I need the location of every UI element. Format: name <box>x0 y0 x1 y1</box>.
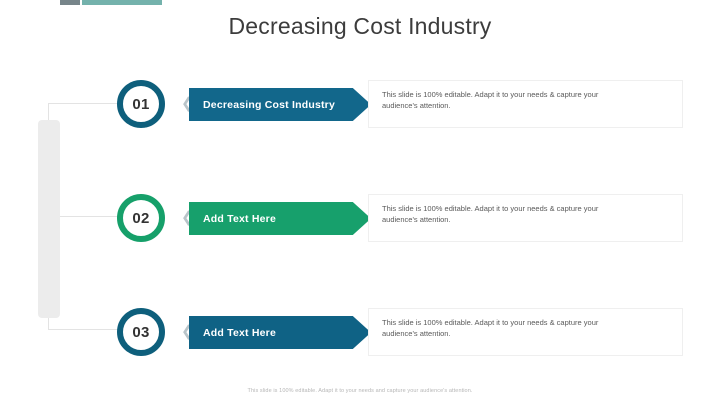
step-circle-3[interactable]: 03 <box>117 308 165 356</box>
step-number-label: 02 <box>132 210 149 227</box>
step-circle-1[interactable]: 01 <box>117 80 165 128</box>
step-circle-2[interactable]: 02 <box>117 194 165 242</box>
list-item: 03 ❮ Add Text Here This slide is 100% ed… <box>0 304 720 360</box>
chevron-left-icon: ❮ <box>181 94 190 114</box>
step-banner-label: Add Text Here <box>189 213 276 225</box>
step-number-label: 03 <box>132 324 149 341</box>
slide-footer-note: This slide is 100% editable. Adapt it to… <box>0 388 720 394</box>
step-banner-3[interactable]: Add Text Here <box>189 316 371 349</box>
chevron-left-icon: ❮ <box>181 208 190 228</box>
step-banner-label: Decreasing Cost Industry <box>189 99 335 111</box>
step-banner-1[interactable]: Decreasing Cost Industry <box>189 88 371 121</box>
description-text-1: This slide is 100% editable. Adapt it to… <box>382 89 632 111</box>
top-accent-bar-gray <box>60 0 80 5</box>
description-text-2: This slide is 100% editable. Adapt it to… <box>382 203 632 225</box>
step-banner-label: Add Text Here <box>189 327 276 339</box>
slide-canvas: Decreasing Cost Industry 01 ❮ Decreasing… <box>0 0 720 404</box>
description-text-3: This slide is 100% editable. Adapt it to… <box>382 317 632 339</box>
step-banner-2[interactable]: Add Text Here <box>189 202 371 235</box>
list-item: 01 ❮ Decreasing Cost Industry This slide… <box>0 76 720 132</box>
chevron-left-icon: ❮ <box>181 322 190 342</box>
top-accent-bar-teal <box>82 0 162 5</box>
step-number-label: 01 <box>132 96 149 113</box>
list-item: 02 ❮ Add Text Here This slide is 100% ed… <box>0 190 720 246</box>
page-title: Decreasing Cost Industry <box>0 13 720 40</box>
